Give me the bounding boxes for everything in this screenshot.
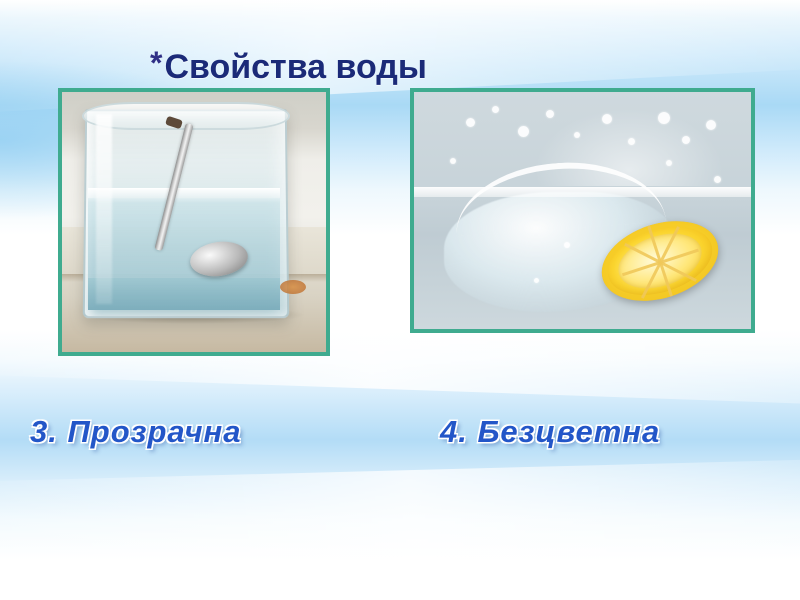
- image-glass-of-water: [58, 88, 330, 356]
- photo-background-splash: [414, 92, 751, 329]
- slide-canvas: * Свойства воды: [0, 0, 800, 600]
- slide-title: * Свойства воды: [150, 48, 670, 86]
- photo-background-glass: [62, 92, 326, 352]
- background-object: [280, 280, 306, 294]
- water-droplet: [658, 112, 670, 124]
- image-lemon-splash: [410, 88, 755, 333]
- water-droplet: [666, 160, 672, 166]
- water-droplet: [466, 118, 475, 127]
- water-droplet: [706, 120, 716, 130]
- water-droplet: [574, 132, 580, 138]
- water-droplet: [518, 126, 529, 137]
- caption-transparent: 3. Прозрачна: [30, 414, 242, 450]
- caption-colorless: 4. Безцветна: [440, 414, 660, 450]
- title-bullet-icon: *: [150, 48, 162, 78]
- page-title: Свойства воды: [164, 48, 426, 86]
- glass-bottom-band: [88, 278, 280, 310]
- water-droplet: [492, 106, 499, 113]
- background-streak-bottom: [0, 458, 800, 600]
- water-droplet: [628, 138, 635, 145]
- water-surface-line: [88, 188, 280, 203]
- water-horizon-band: [414, 187, 751, 197]
- water-droplet: [714, 176, 721, 183]
- water-droplet: [450, 158, 456, 164]
- glass-highlight: [96, 114, 112, 304]
- water-droplet: [564, 242, 570, 248]
- water-droplet: [546, 110, 554, 118]
- water-droplet: [682, 136, 690, 144]
- water-droplet: [534, 278, 539, 283]
- water-droplet: [602, 114, 612, 124]
